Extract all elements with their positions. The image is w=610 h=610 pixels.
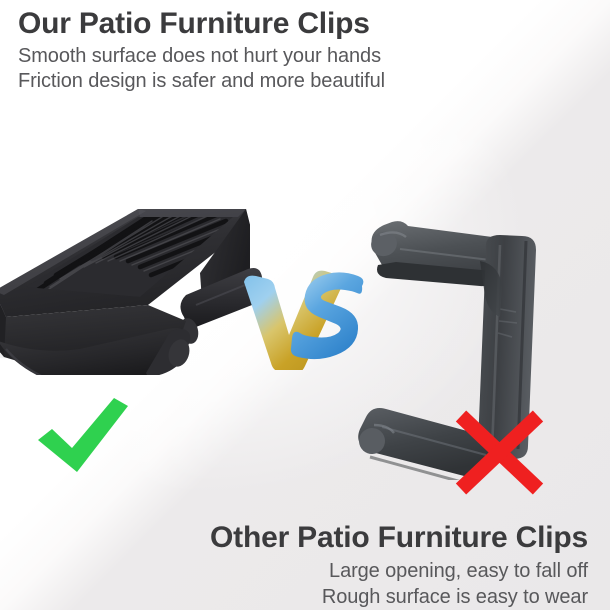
other-clips-heading: Other Patio Furniture Clips bbox=[0, 518, 588, 558]
top-text-block: Our Patio Furniture Clips Smooth surface… bbox=[18, 4, 578, 94]
our-clips-bullet-2: Friction design is safer and more beauti… bbox=[18, 69, 578, 94]
red-cross-icon bbox=[452, 410, 547, 495]
our-clips-bullet-1: Smooth surface does not hurt your hands bbox=[18, 44, 578, 69]
product-comparison-image: Clips Our Patio Furniture Clips Smooth s… bbox=[0, 0, 610, 610]
our-clips-heading: Our Patio Furniture Clips bbox=[18, 4, 578, 44]
other-clips-bullet-2: Rough surface is easy to wear bbox=[0, 584, 588, 610]
green-check-icon bbox=[34, 396, 132, 476]
bottom-text-block: Other Patio Furniture Clips Large openin… bbox=[0, 518, 600, 610]
other-clips-bullet-1: Large opening, easy to fall off bbox=[0, 558, 588, 584]
